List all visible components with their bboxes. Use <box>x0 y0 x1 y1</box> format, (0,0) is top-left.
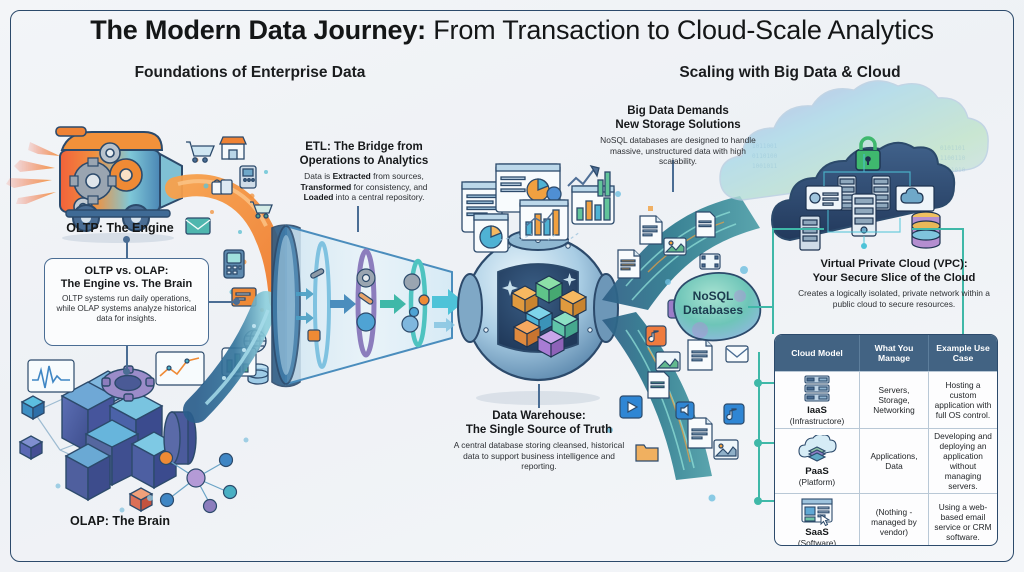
cell-manage-iaas: Servers, Storage, Networking <box>859 372 928 428</box>
table-header-what-you-manage: What You Manage <box>859 335 928 371</box>
connector-dot-oltp <box>123 236 130 243</box>
model-sub-iaas: (Infrastructore) <box>790 416 844 426</box>
connector-dot-paas <box>754 439 762 447</box>
callout-big-data-title-line1: Big Data Demands <box>627 105 729 117</box>
connector-box-right <box>209 301 235 303</box>
callout-dw-body: A central database storing cleansed, his… <box>448 440 630 472</box>
cell-model-paas: PaaS (Platform) <box>775 429 859 493</box>
callout-big-data-body: NoSQL databases are designed to handle m… <box>598 135 758 167</box>
callout-oltp-olap-title-line2: The Engine vs. The Brain <box>61 278 192 290</box>
callout-oltp-vs-olap: OLTP vs. OLAP: The Engine vs. The Brain … <box>44 258 209 346</box>
etl-bold-transformed: Transformed <box>301 182 352 192</box>
callout-dw-title-line2: The Single Source of Truth <box>466 424 612 436</box>
table-header-cloud-model: Cloud Model <box>775 335 859 371</box>
cell-usecase-iaas: Hosting a custom application with full O… <box>928 372 997 428</box>
model-sub-paas: (Platform) <box>799 477 835 487</box>
cell-manage-paas: Applications, Data <box>859 429 928 493</box>
etl-body-pre: Data is <box>304 171 332 181</box>
caption-olap: OLAP: The Brain <box>30 514 210 528</box>
callout-oltp-olap-title: OLTP vs. OLAP: The Engine vs. The Brain <box>52 265 201 291</box>
connector-dot-iaas <box>754 379 762 387</box>
callout-dw-title-line1: Data Warehouse: <box>492 410 586 422</box>
server-rack-icon <box>797 374 837 404</box>
table-header-example-use-case: Example Use Case <box>928 335 997 371</box>
callout-etl-title-line2: Operations to Analytics <box>300 155 429 167</box>
connector-teal-table-bus <box>758 352 760 502</box>
callout-etl-title-line1: ETL: The Bridge from <box>305 141 423 153</box>
connector-etl-to-funnel <box>357 206 359 232</box>
caption-nosql: NoSQL Databases <box>672 289 754 317</box>
etl-body-mid1: from sources, <box>371 171 424 181</box>
connector-sphere-to-dw-caption <box>538 384 540 408</box>
vpc-cloud-illustration: 10110010110100 10010110101101 1100110001… <box>720 81 988 250</box>
cell-usecase-paas: Developing and deploying an application … <box>928 429 997 493</box>
etl-bold-loaded: Loaded <box>304 192 334 202</box>
connector-dot-olap <box>123 368 130 375</box>
connector-nosql-right <box>748 306 774 308</box>
etl-body-mid2: for consistency, and <box>351 182 427 192</box>
connector-dot-saas <box>754 497 762 505</box>
cell-model-saas: SaaS (Software) <box>775 494 859 546</box>
etl-body-post: into a central repository. <box>333 192 424 202</box>
connector-teal-cloud-right-h <box>912 228 964 230</box>
etl-funnel-illustration <box>272 225 464 387</box>
callout-big-data-title-line2: New Storage Solutions <box>615 119 740 131</box>
callout-etl-body: Data is Extracted from sources, Transfor… <box>288 171 440 203</box>
connector-teal-to-cloud-left <box>772 228 824 230</box>
callout-big-data: Big Data Demands New Storage Solutions N… <box>598 105 758 167</box>
table-row-iaas: IaaS (Infrastructore) Servers, Storage, … <box>775 371 997 428</box>
table-row-paas: PaaS (Platform) Applications, Data Devel… <box>775 428 997 493</box>
callout-etl-title: ETL: The Bridge from Operations to Analy… <box>288 141 440 168</box>
cloud-model-table: Cloud Model What You Manage Example Use … <box>774 334 998 546</box>
connector-teal-vertical-main <box>772 228 774 334</box>
callout-etl: ETL: The Bridge from Operations to Analy… <box>288 141 440 203</box>
svg-text:1100110: 1100110 <box>940 155 966 162</box>
callout-vpc-body: Creates a logically isolated, private ne… <box>790 288 998 309</box>
cloud-stack-icon <box>797 435 837 465</box>
cube-stack <box>62 366 196 500</box>
svg-text:0101101: 0101101 <box>940 145 966 152</box>
cell-manage-saas: (Nothing - managed by vendor) <box>859 494 928 546</box>
callout-vpc-title-line2: Your Secure Slice of the Cloud <box>813 272 976 284</box>
nosql-line-1: NoSQL <box>693 289 734 303</box>
cell-usecase-saas: Using a web-based email service or CRM s… <box>928 494 997 546</box>
callout-oltp-olap-body: OLTP systems run daily operations, while… <box>52 294 201 325</box>
browser-window-icon <box>797 496 837 526</box>
callout-vpc-title: Virtual Private Cloud (VPC): Your Secure… <box>790 258 998 285</box>
etl-bold-extracted: Extracted <box>333 171 371 181</box>
connector-dot-box-right <box>233 298 240 305</box>
data-warehouse-sphere <box>458 164 618 405</box>
callout-data-warehouse: Data Warehouse: The Single Source of Tru… <box>448 410 630 472</box>
callout-oltp-olap-title-line1: OLTP vs. OLAP: <box>85 265 169 277</box>
model-name-saas: SaaS <box>805 528 828 538</box>
nosql-line-2: Databases <box>683 303 743 317</box>
cell-model-iaas: IaaS (Infrastructore) <box>775 372 859 428</box>
infographic-canvas: The Modern Data Journey: From Transactio… <box>0 0 1024 572</box>
model-name-iaas: IaaS <box>807 406 827 416</box>
connector-box-to-olap <box>126 346 128 370</box>
model-sub-saas: (Software) <box>798 538 836 546</box>
callout-vpc-title-line1: Virtual Private Cloud (VPC): <box>820 258 967 270</box>
model-name-paas: PaaS <box>805 467 828 477</box>
callout-dw-title: Data Warehouse: The Single Source of Tru… <box>448 410 630 437</box>
table-row-saas: SaaS (Software) (Nothing - managed by ve… <box>775 493 997 546</box>
callout-big-data-title: Big Data Demands New Storage Solutions <box>598 105 758 132</box>
table-header-row: Cloud Model What You Manage Example Use … <box>775 335 997 371</box>
caption-oltp: OLTP: The Engine <box>30 221 210 235</box>
callout-vpc: Virtual Private Cloud (VPC): Your Secure… <box>790 258 998 309</box>
